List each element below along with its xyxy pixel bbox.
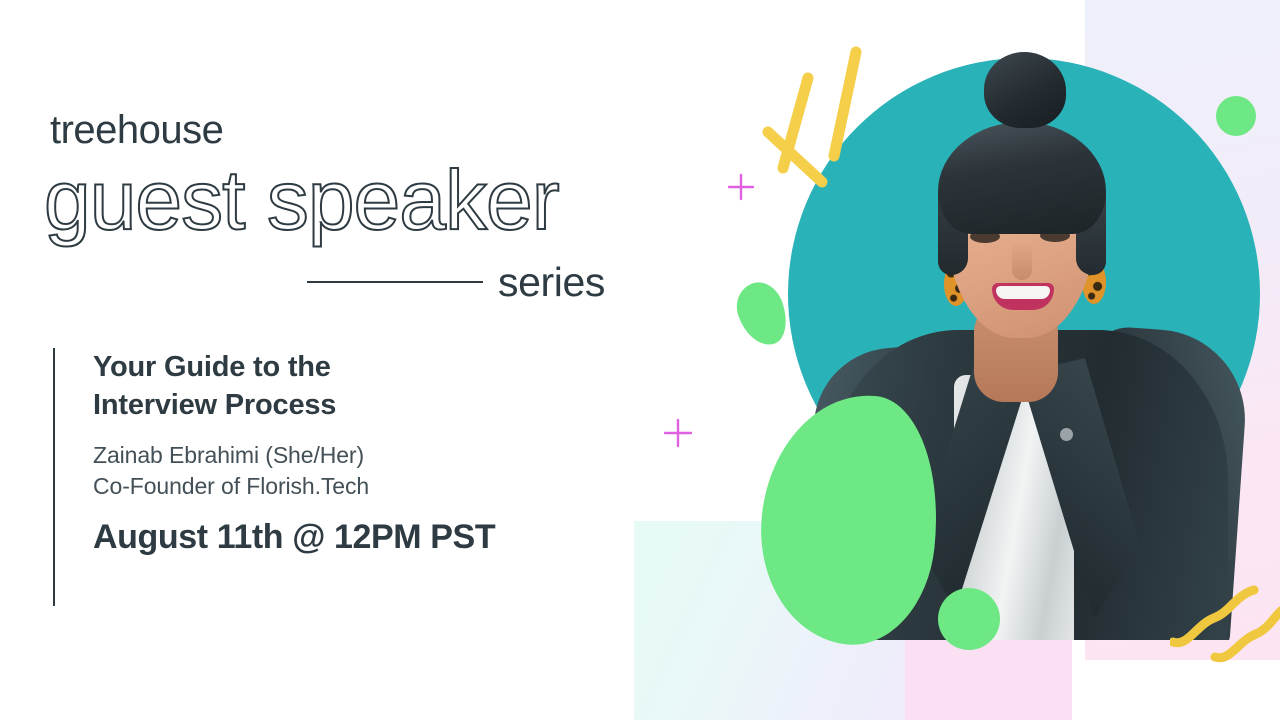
headline-guest-speaker: guest speaker (44, 158, 559, 242)
plus-mark-icon (726, 172, 756, 202)
speaker-name: Zainab Ebrahimi (She/Her) (93, 440, 495, 472)
series-divider-rule (307, 281, 483, 283)
mouth (992, 283, 1054, 310)
series-row: series (307, 258, 627, 306)
green-circle-top-icon (1216, 96, 1256, 136)
teeth (996, 286, 1050, 299)
green-circle-bottom-icon (938, 588, 1000, 650)
text-column: treehouse guest speaker series Your Guid… (0, 0, 660, 720)
speaker-role: Co-Founder of Florish.Tech (93, 471, 495, 503)
green-bean-blob-icon (730, 276, 794, 351)
event-datetime: August 11th @ 12PM PST (93, 519, 495, 556)
plus-mark-icon (662, 417, 694, 449)
event-details-block: Your Guide to the Interview Process Zain… (53, 348, 495, 606)
jacket-collar-stud (1060, 428, 1073, 441)
slide-canvas: treehouse guest speaker series Your Guid… (0, 0, 1280, 720)
hair-bun (984, 52, 1066, 128)
hair-top (938, 122, 1106, 234)
nose (1012, 242, 1032, 280)
talk-title: Your Guide to the Interview Process (93, 348, 495, 425)
series-label: series (498, 262, 605, 303)
brand-wordmark: treehouse (50, 110, 223, 150)
